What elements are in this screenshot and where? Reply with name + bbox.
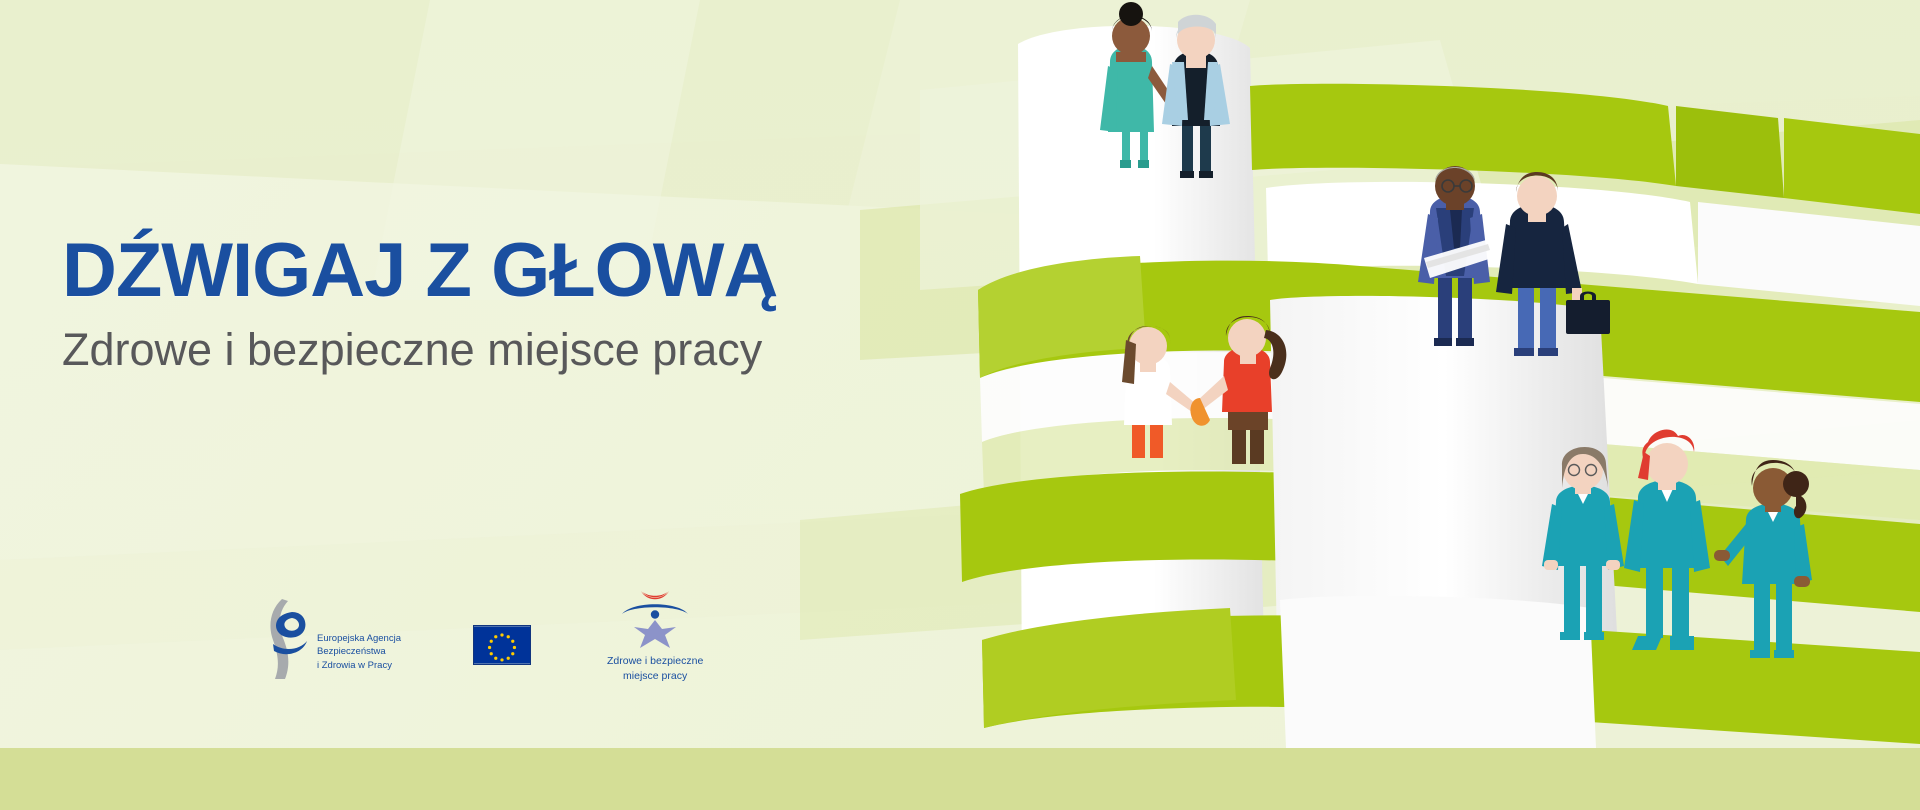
eu-osha-logo-text: Europejska Agencja Bezpieczeństwa i Zdro…: [317, 632, 401, 672]
illustration-spiral-workers: [800, 0, 1920, 760]
healthy-workplaces-mark-icon: [610, 586, 700, 652]
page-subtitle: Zdrowe i bezpieczne miejsce pracy: [62, 324, 882, 376]
osha-line-3: i Zdrowia w Pracy: [317, 659, 401, 672]
text-block: DŹWIGAJ Z GŁOWĄ Zdrowe i bezpieczne miej…: [62, 232, 882, 375]
campaign-banner: DŹWIGAJ Z GŁOWĄ Zdrowe i bezpieczne miej…: [0, 0, 1920, 810]
eu-osha-mark-icon: [262, 596, 314, 682]
osha-line-1: Europejska Agencja: [317, 632, 401, 645]
eu-flag-icon: [473, 625, 531, 665]
bottom-strip: [0, 748, 1920, 810]
campaign-line-2: miejsce pracy: [607, 669, 703, 684]
campaign-line-1: Zdrowe i bezpieczne: [607, 654, 703, 669]
healthy-workplaces-campaign-logo: Zdrowe i bezpieczne miejsce pracy: [607, 586, 703, 684]
european-union-flag: [473, 625, 531, 665]
eu-osha-logo: Europejska Agencja Bezpieczeństwa i Zdro…: [262, 596, 401, 682]
logo-row: Europejska Agencja Bezpieczeństwa i Zdro…: [262, 596, 703, 684]
campaign-logo-text: Zdrowe i bezpieczne miejsce pracy: [607, 654, 703, 684]
osha-line-2: Bezpieczeństwa: [317, 645, 401, 658]
page-title: DŹWIGAJ Z GŁOWĄ: [62, 232, 882, 310]
